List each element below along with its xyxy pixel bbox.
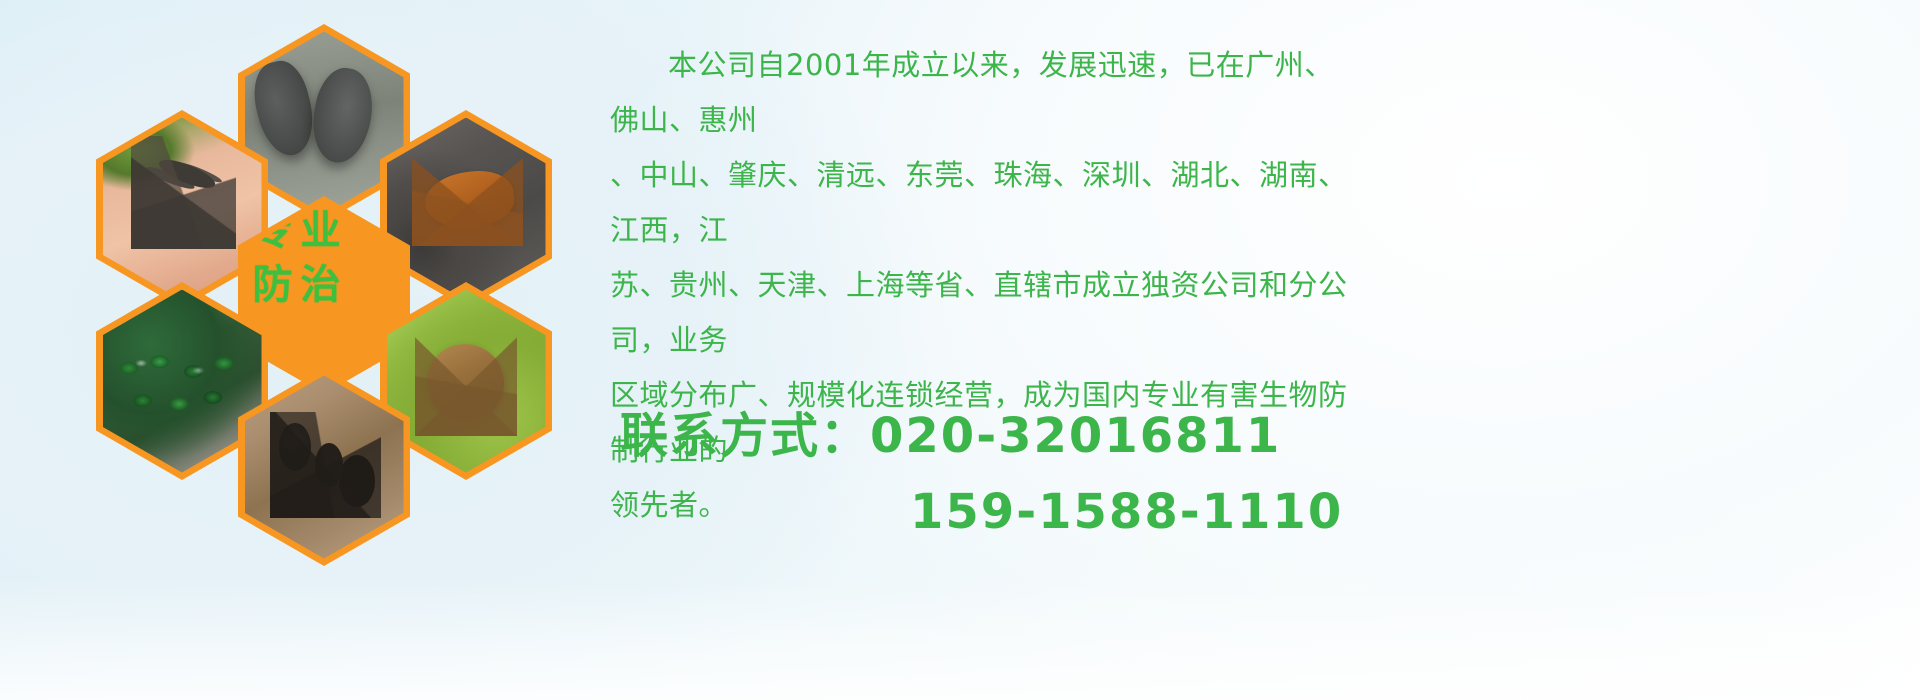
description-line-1: 本公司自2001年成立以来，发展迅速，已在广州、佛山、惠州 (610, 38, 1350, 148)
flies-image (103, 290, 262, 473)
contact-secondary-phone[interactable]: 159-1588-1110 (620, 474, 1380, 550)
banner-root: 专业 防治 本公司自2001年成立以来，发展迅速，已在广州、佛山、惠州 、中山、… (0, 0, 1920, 700)
cockroach-image (387, 118, 546, 301)
description-line-2: 、中山、肇庆、清远、东莞、珠海、深圳、湖北、湖南、江西，江 (610, 148, 1350, 258)
contact-block: 联系方式：020-32016811 159-1588-1110 (620, 398, 1380, 550)
slogan-line-1: 专业 (245, 204, 404, 258)
ant-image (245, 376, 404, 559)
mosquito-image (103, 118, 262, 301)
rats-image (245, 32, 404, 215)
stink-bug-image (387, 290, 546, 473)
contact-primary-phone[interactable]: 联系方式：020-32016811 (620, 398, 1380, 474)
description-line-3: 苏、贵州、天津、上海等省、直辖市成立独资公司和分公司，业务 (610, 258, 1350, 368)
hexagon-photo-cluster: 专业 防治 (90, 10, 600, 570)
slogan-line-2: 防治 (245, 258, 404, 312)
